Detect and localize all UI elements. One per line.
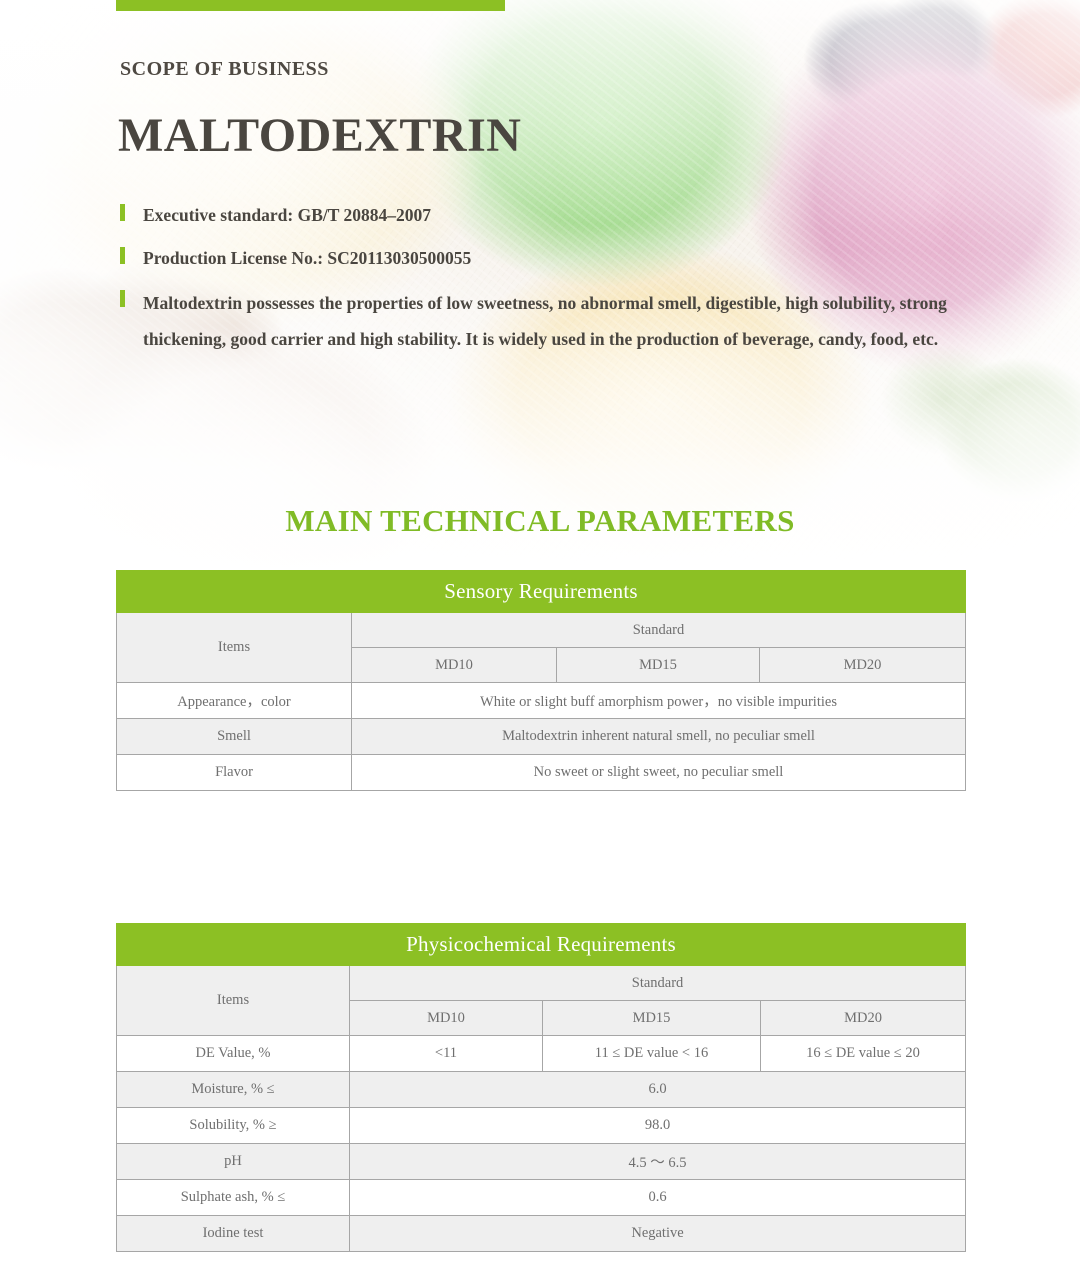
table-row: DE Value, % <11 11 ≤ DE value < 16 16 ≤ … (117, 1036, 966, 1072)
row-item-label: Solubility, % ≥ (117, 1108, 350, 1144)
row-value-md10: <11 (350, 1036, 543, 1072)
header-grade-md20: MD20 (761, 1001, 966, 1036)
table-row: pH 4.5 ～ 6.5 (117, 1144, 966, 1180)
row-value: 0.6 (350, 1180, 966, 1216)
list-item: Executive standard: GB/T 20884–2007 (120, 200, 950, 231)
row-item-label: DE Value, % (117, 1036, 350, 1072)
eyebrow-label: SCOPE OF BUSINESS (120, 58, 329, 81)
row-value-md15: 11 ≤ DE value < 16 (543, 1036, 761, 1072)
header-standard: Standard (350, 966, 966, 1001)
header-grade-md10: MD10 (352, 648, 557, 683)
table-row: Iodine test Negative (117, 1216, 966, 1252)
bullet-marker-icon (120, 204, 125, 221)
row-item-label: Smell (117, 719, 352, 755)
sensory-requirements-table-wrap: Sensory Requirements Items Standard MD10… (116, 570, 965, 791)
bullet-text: Production License No.: SC20113030500055 (143, 243, 950, 274)
table-row: Moisture, % ≤ 6.0 (117, 1072, 966, 1108)
row-item-label: Flavor (117, 755, 352, 791)
row-value: White or slight buff amorphism power，no … (352, 683, 966, 719)
table-header-row: Items Standard (117, 966, 966, 1001)
bullet-marker-icon (120, 290, 125, 307)
table-header-row: Items Standard (117, 613, 966, 648)
row-value: Negative (350, 1216, 966, 1252)
list-item: Production License No.: SC20113030500055 (120, 243, 950, 274)
page-title: MALTODEXTRIN (118, 110, 521, 163)
row-value: 98.0 (350, 1108, 966, 1144)
header-grade-md10: MD10 (350, 1001, 543, 1036)
row-value: No sweet or slight sweet, no peculiar sm… (352, 755, 966, 791)
table-caption: Sensory Requirements (117, 571, 966, 613)
header-standard: Standard (352, 613, 966, 648)
bullet-text: Maltodextrin possesses the properties of… (143, 286, 950, 358)
row-item-label: Appearance，color (117, 683, 352, 719)
row-item-label: pH (117, 1144, 350, 1180)
row-value-md20: 16 ≤ DE value ≤ 20 (761, 1036, 966, 1072)
physicochemical-requirements-table-wrap: Physicochemical Requirements Items Stand… (116, 923, 965, 1252)
table-row: Solubility, % ≥ 98.0 (117, 1108, 966, 1144)
bullet-text: Executive standard: GB/T 20884–2007 (143, 200, 950, 231)
row-item-label: Moisture, % ≤ (117, 1072, 350, 1108)
table-row: Appearance，color White or slight buff am… (117, 683, 966, 719)
row-value: Maltodextrin inherent natural smell, no … (352, 719, 966, 755)
physicochemical-requirements-table: Physicochemical Requirements Items Stand… (116, 923, 966, 1252)
list-item: Maltodextrin possesses the properties of… (120, 286, 950, 358)
table-row: Flavor No sweet or slight sweet, no pecu… (117, 755, 966, 791)
header-grade-md15: MD15 (557, 648, 760, 683)
header-items: Items (117, 613, 352, 683)
header-grade-md20: MD20 (760, 648, 966, 683)
table-caption: Physicochemical Requirements (117, 924, 966, 966)
row-item-label: Sulphate ash, % ≤ (117, 1180, 350, 1216)
row-value: 4.5 ～ 6.5 (350, 1144, 966, 1180)
feature-bullet-list: Executive standard: GB/T 20884–2007 Prod… (120, 200, 950, 370)
table-caption-row: Physicochemical Requirements (117, 924, 966, 966)
section-heading: MAIN TECHNICAL PARAMETERS (0, 503, 1080, 539)
header-items: Items (117, 966, 350, 1036)
table-row: Smell Maltodextrin inherent natural smel… (117, 719, 966, 755)
bullet-marker-icon (120, 247, 125, 264)
table-row: Sulphate ash, % ≤ 0.6 (117, 1180, 966, 1216)
row-item-label: Iodine test (117, 1216, 350, 1252)
sensory-requirements-table: Sensory Requirements Items Standard MD10… (116, 570, 966, 791)
hero-text-block: SCOPE OF BUSINESS MALTODEXTRIN Executive… (0, 0, 1080, 580)
table-caption-row: Sensory Requirements (117, 571, 966, 613)
row-value: 6.0 (350, 1072, 966, 1108)
header-grade-md15: MD15 (543, 1001, 761, 1036)
